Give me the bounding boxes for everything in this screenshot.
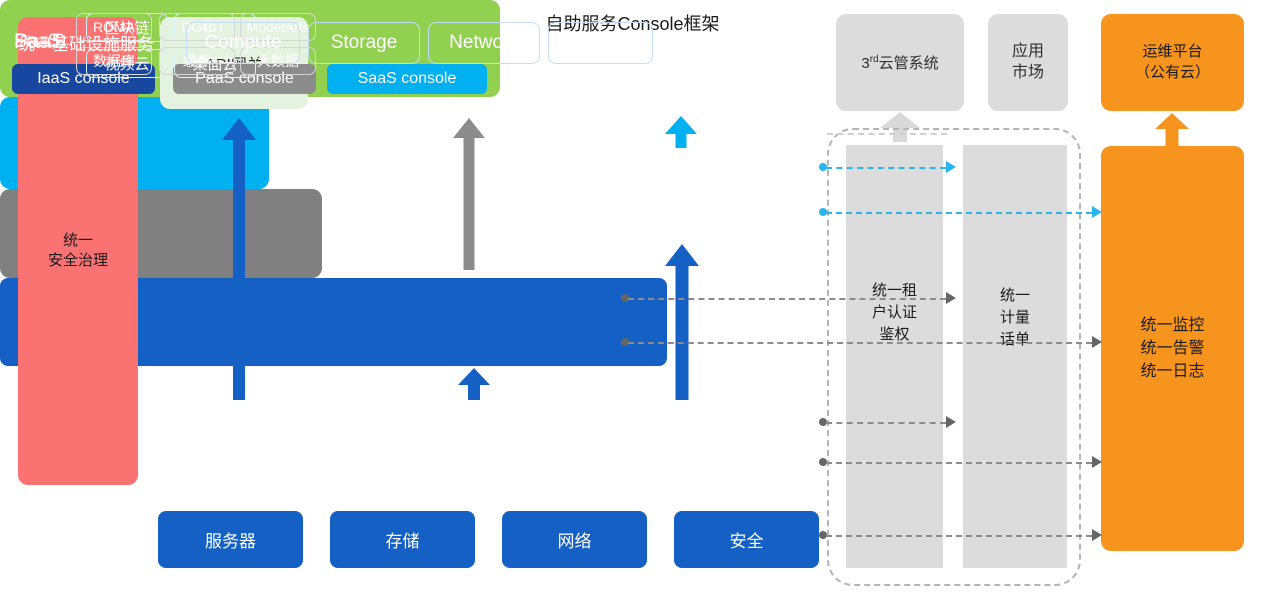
- hardware-box-server: 服务器: [158, 511, 303, 568]
- saas-console-chip[interactable]: SaaS console: [327, 64, 487, 94]
- ops-platform-line-1: 运维平台: [1135, 42, 1210, 62]
- third-party-cloud-management-box: 3rd云管系统: [836, 14, 964, 111]
- connector-arrowhead-infra-ops: [1092, 456, 1102, 468]
- hardware-box-network: 网络: [502, 511, 647, 568]
- connector-arrowhead-saas-auth: [946, 161, 956, 173]
- connector-line-saas-to-auth: [826, 167, 946, 169]
- connector-line-paas-to-ops: [628, 342, 1092, 344]
- arrow-infra-to-paas: [458, 368, 490, 400]
- unified-billing-label: 统一 计量 话单: [963, 285, 1067, 350]
- connector-arrowhead-saas-ops: [1092, 206, 1102, 218]
- ops-panel-line-3: 统一日志: [1140, 360, 1204, 383]
- app-market-line-2: 市场: [1012, 63, 1044, 84]
- connector-line-infra-to-ops: [826, 462, 1092, 464]
- hardware-box-security: 安全: [674, 511, 819, 568]
- ops-platform-public-cloud-box: 运维平台 （公有云）: [1101, 14, 1244, 111]
- connector-arrowhead-paas-auth: [946, 292, 956, 304]
- ops-panel-line-2: 统一告警: [1140, 337, 1204, 360]
- arrow-ops-panel-to-ops-platform: [1155, 113, 1189, 147]
- infra-chip-cce[interactable]: CCE: [548, 22, 653, 64]
- unified-billing-column: [963, 145, 1067, 568]
- app-market-line-1: 应用: [1012, 42, 1044, 63]
- third-party-label: 3rd云管系统: [861, 52, 938, 73]
- unified-tenant-auth-label: 统一租 户认证 鉴权: [846, 280, 943, 345]
- connector-arrowhead-paas-ops: [1092, 336, 1102, 348]
- connector-arrowhead-hardware-ops: [1092, 529, 1102, 541]
- connector-line-to-third-party-cloud: [827, 133, 947, 135]
- arrow-saas-to-console: [665, 116, 697, 148]
- infra-chip-compute[interactable]: Compute: [186, 22, 300, 64]
- connector-line-saas-to-ops: [826, 212, 1092, 214]
- connector-line-paas-to-auth: [628, 298, 946, 300]
- unified-monitoring-panel: 统一监控 统一告警 统一日志: [1101, 146, 1244, 551]
- infra-services-label: 统一基础设施服务: [18, 30, 154, 55]
- arrow-paas-to-console: [453, 118, 485, 270]
- ops-platform-line-2: （公有云）: [1135, 63, 1210, 83]
- hardware-box-storage: 存储: [330, 511, 475, 568]
- app-market-box: 应用 市场: [988, 14, 1068, 111]
- connector-arrowhead-infra-auth: [946, 416, 956, 428]
- unified-tenant-auth-column: [846, 145, 943, 568]
- connector-line-infra-to-auth: [826, 422, 946, 424]
- architecture-diagram: 统一 安全治理 API网关 自助服务Console框架 IaaS console…: [0, 0, 1265, 605]
- security-line-2: 安全治理: [48, 251, 108, 271]
- connector-line-hardware-to-ops: [826, 535, 1092, 537]
- ops-panel-line-1: 统一监控: [1140, 314, 1204, 337]
- security-line-1: 统一: [48, 231, 108, 251]
- arrow-infra-to-api-gateway: [222, 118, 256, 400]
- infra-chip-network[interactable]: Network: [428, 22, 540, 64]
- arrow-infra-to-saas: [665, 244, 699, 400]
- infra-chip-storage[interactable]: Storage: [308, 22, 420, 64]
